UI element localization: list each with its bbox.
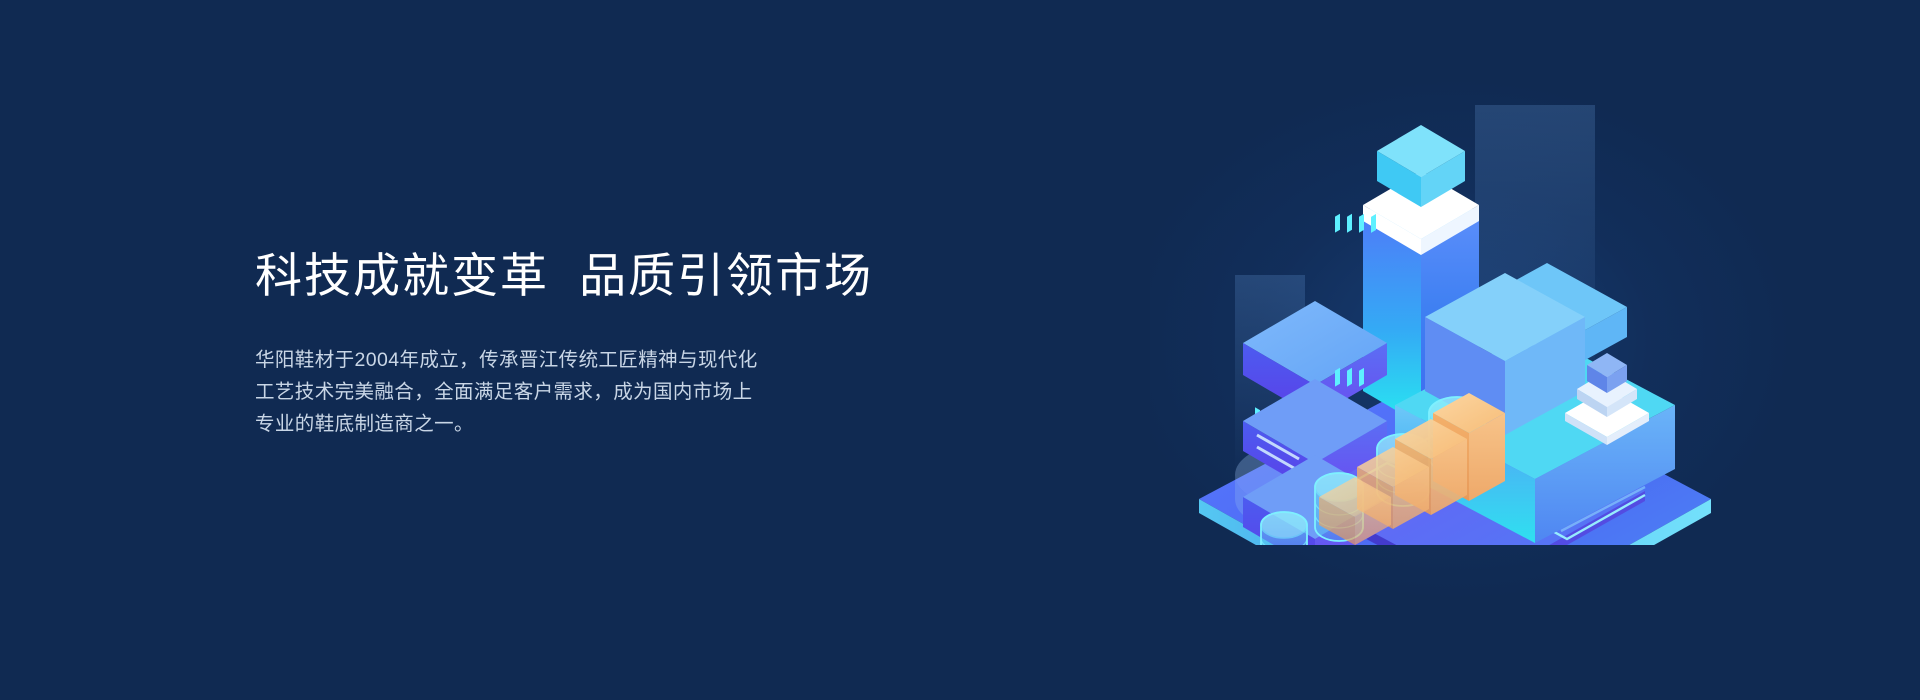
hero-description: 华阳鞋材于2004年成立，传承晋江传统工匠精神与现代化 工艺技术完美融合，全面满…: [255, 344, 765, 440]
isometric-factory-illustration: [1175, 95, 1735, 545]
description-line-1: 华阳鞋材于2004年成立，传承晋江传统工匠精神与现代化: [255, 344, 765, 376]
hero-banner: 科技成就变革 品质引领市场 华阳鞋材于2004年成立，传承晋江传统工匠精神与现代…: [0, 0, 1920, 700]
storage-tank: [1261, 512, 1307, 545]
hero-text-block: 科技成就变革 品质引领市场 华阳鞋材于2004年成立，传承晋江传统工匠精神与现代…: [255, 246, 1015, 440]
page-title: 科技成就变革 品质引领市场: [255, 246, 1015, 306]
description-line-3: 专业的鞋底制造商之一。: [255, 408, 765, 440]
description-line-2: 工艺技术完美融合，全面满足客户需求，成为国内市场上: [255, 376, 765, 408]
